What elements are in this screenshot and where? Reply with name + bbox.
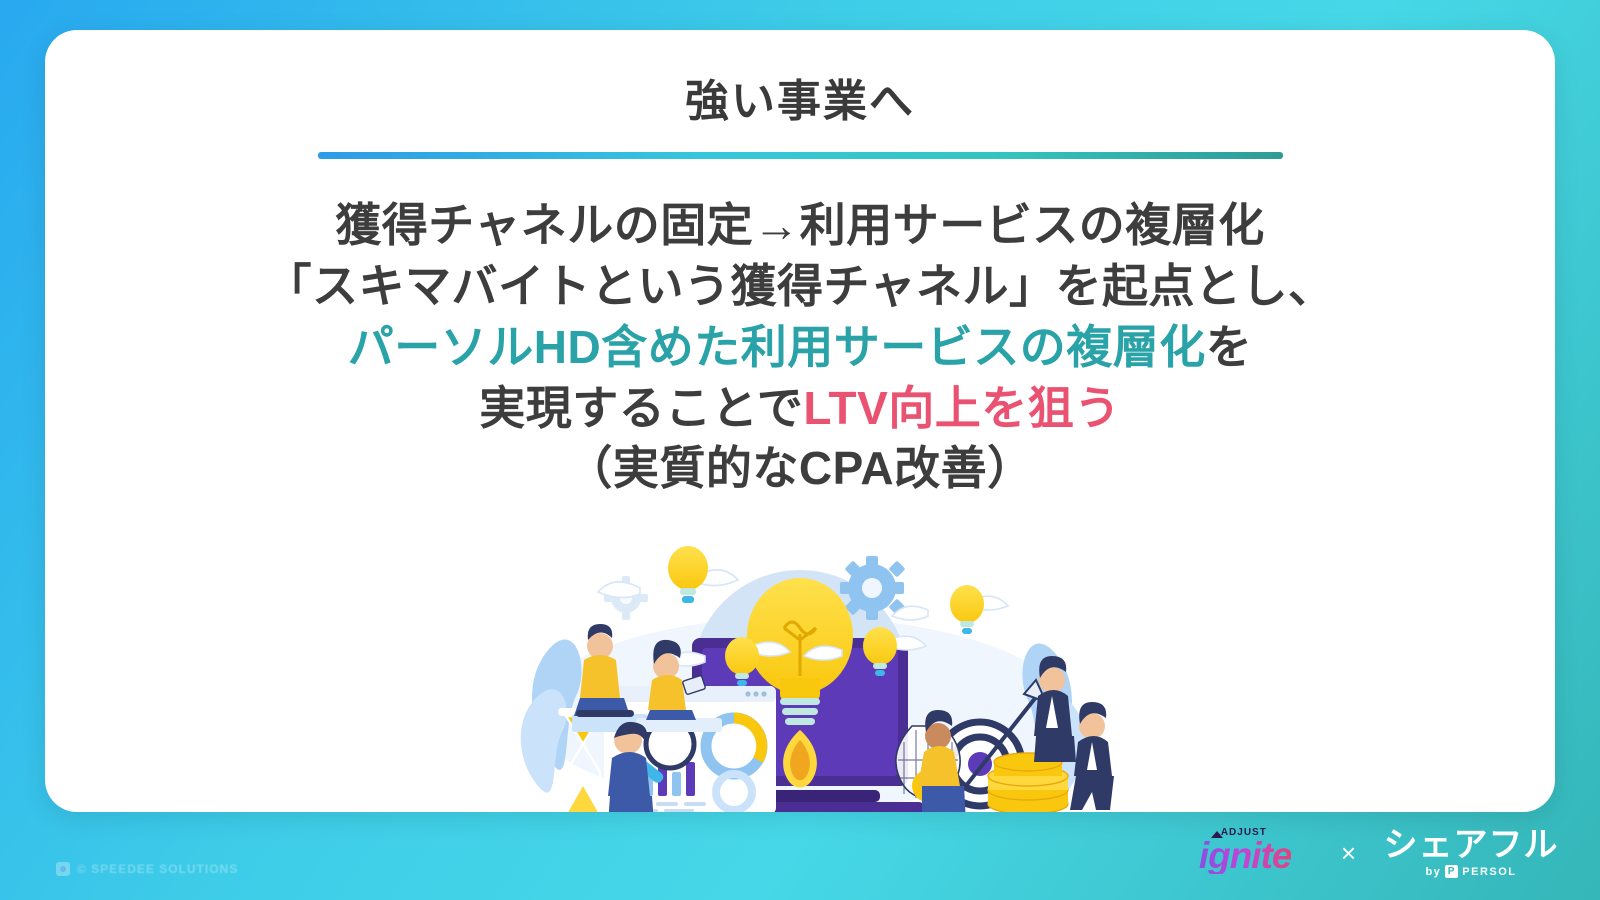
cross-icon: × [1341, 840, 1356, 866]
body-line-3-segment-plain: を [1206, 321, 1253, 373]
body-line-2: 「スキマバイトという獲得チャネル」を起点とし、 [45, 256, 1555, 317]
logo-adjust-ignite: ADJUST ignite [1199, 825, 1319, 881]
logo-sharefull-byline: by P PERSOL [1378, 865, 1564, 878]
logo-sharefull-brand: PERSOL [1462, 866, 1516, 878]
copyright-mark-icon [56, 862, 70, 876]
persol-mark-icon: P [1445, 865, 1458, 878]
body-line-3: パーソルHD含めた利用サービスの複層化を [45, 317, 1555, 378]
business-innovation-illustration [480, 528, 1120, 812]
logo-ignite-wordmark: ignite [1199, 837, 1292, 874]
logo-sharefull-by: by [1425, 866, 1441, 878]
body-line-2-segment-1: 「スキマバイトという獲得チャネル」を起点とし、 [265, 260, 1334, 312]
slide-body-copy: 獲得チャネルの固定→利用サービスの複層化 「スキマバイトという獲得チャネル」を起… [45, 195, 1555, 499]
copyright-notice: © SPEEDEE SOLUTIONS [56, 862, 238, 876]
copyright-text: © SPEEDEE SOLUTIONS [77, 862, 238, 876]
page-title: 強い事業へ [45, 78, 1555, 126]
footer-logo-group: ADJUST ignite × シェアフル by P PERSOL [1199, 822, 1564, 884]
gear-icon-large [840, 556, 905, 620]
body-line-4: 実現することでLTV向上を狙う [45, 378, 1555, 439]
logo-sharefull: シェアフル by P PERSOL [1378, 828, 1564, 879]
body-line-5: （実質的なCPA改善） [45, 438, 1555, 499]
body-line-1-segment-1: 獲得チャネルの固定→利用サービスの複層化 [335, 199, 1265, 251]
body-line-4-segment-pink: LTV向上を狙う [803, 382, 1120, 434]
winged-bulb-icon-1 [598, 546, 738, 603]
illustration-svg [480, 528, 1120, 812]
title-divider [318, 152, 1283, 159]
body-line-1: 獲得チャネルの固定→利用サービスの複層化 [45, 195, 1555, 256]
logo-sharefull-wordmark: シェアフル [1378, 828, 1564, 864]
body-line-4-segment-plain: 実現することで [479, 382, 803, 434]
body-line-3-segment-teal: パーソルHD含めた利用サービスの複層化 [348, 321, 1206, 373]
body-line-5-segment-1: （実質的なCPA改善） [566, 442, 1033, 494]
slide-card: 強い事業へ 獲得チャネルの固定→利用サービスの複層化 「スキマバイトという獲得チ… [45, 30, 1555, 812]
